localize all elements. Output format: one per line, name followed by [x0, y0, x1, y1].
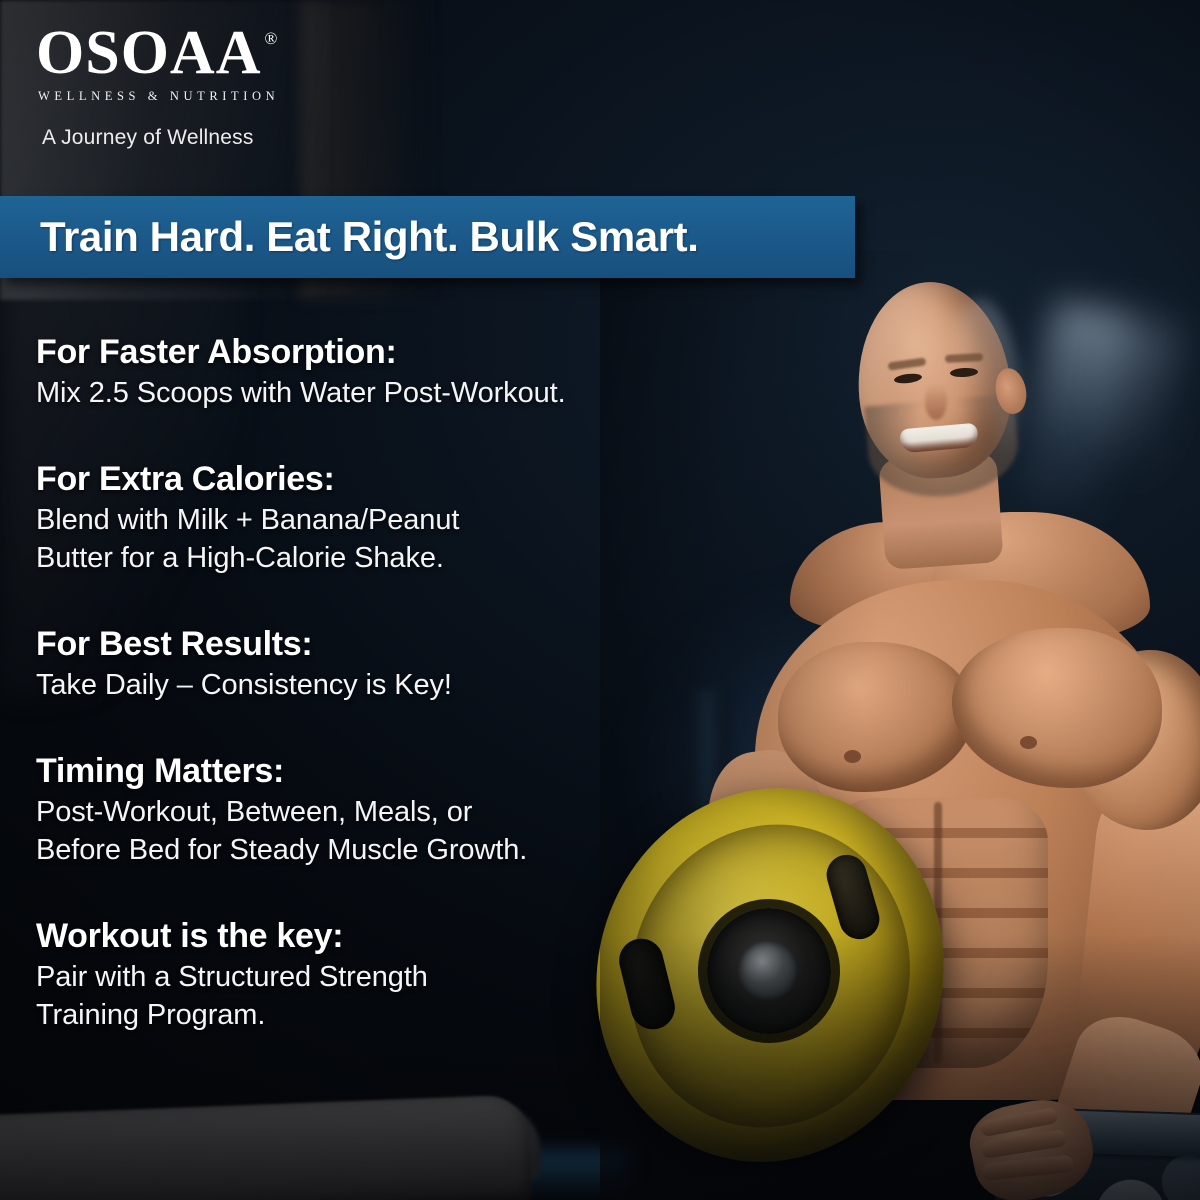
finger: [981, 1155, 1074, 1182]
instruction-heading: Workout is the key:: [36, 916, 736, 956]
instruction-line: Post-Workout, Between, Meals, or: [36, 793, 736, 831]
instruction-line: Butter for a High-Calorie Shake.: [36, 539, 736, 577]
weight-plate-bore: [737, 940, 799, 1002]
instruction-heading: For Extra Calories:: [36, 459, 736, 499]
brand-logo[interactable]: OSOAA ® WELLNESS & NUTRITION A Journey o…: [36, 22, 279, 150]
instruction-line: Pair with a Structured Strength: [36, 958, 736, 996]
instruction-heading: For Best Results:: [36, 624, 736, 664]
instruction-block: For Faster Absorption: Mix 2.5 Scoops wi…: [36, 332, 736, 412]
instruction-line: Mix 2.5 Scoops with Water Post-Workout.: [36, 374, 736, 412]
headline-banner: Train Hard. Eat Right. Bulk Smart.: [0, 196, 855, 278]
brand-tagline: A Journey of Wellness: [42, 126, 279, 150]
instruction-heading: Timing Matters:: [36, 751, 736, 791]
instruction-heading: For Faster Absorption:: [36, 332, 736, 372]
nose: [925, 384, 947, 420]
registered-trademark-icon: ®: [264, 30, 277, 47]
instruction-line: Before Bed for Steady Muscle Growth.: [36, 831, 736, 869]
logo-wordmark-row: OSOAA ®: [36, 22, 279, 84]
promo-poster: OSOAA ® WELLNESS & NUTRITION A Journey o…: [0, 0, 1200, 1200]
instruction-line: Training Program.: [36, 996, 736, 1034]
instruction-block: Workout is the key: Pair with a Structur…: [36, 916, 736, 1034]
instruction-block: For Best Results: Take Daily – Consisten…: [36, 624, 736, 704]
chest-detail-right: [1020, 736, 1037, 749]
instruction-line: Blend with Milk + Banana/Peanut: [36, 501, 736, 539]
headline-text: Train Hard. Eat Right. Bulk Smart.: [40, 216, 699, 258]
logo-subtitle: WELLNESS & NUTRITION: [38, 89, 279, 104]
logo-wordmark: OSOAA: [36, 22, 261, 84]
instructions-list: For Faster Absorption: Mix 2.5 Scoops wi…: [36, 332, 736, 1034]
instruction-block: For Extra Calories: Blend with Milk + Ba…: [36, 459, 736, 577]
instruction-block: Timing Matters: Post-Workout, Between, M…: [36, 751, 736, 869]
instruction-line: Take Daily – Consistency is Key!: [36, 666, 736, 704]
chest-detail-left: [844, 750, 861, 763]
